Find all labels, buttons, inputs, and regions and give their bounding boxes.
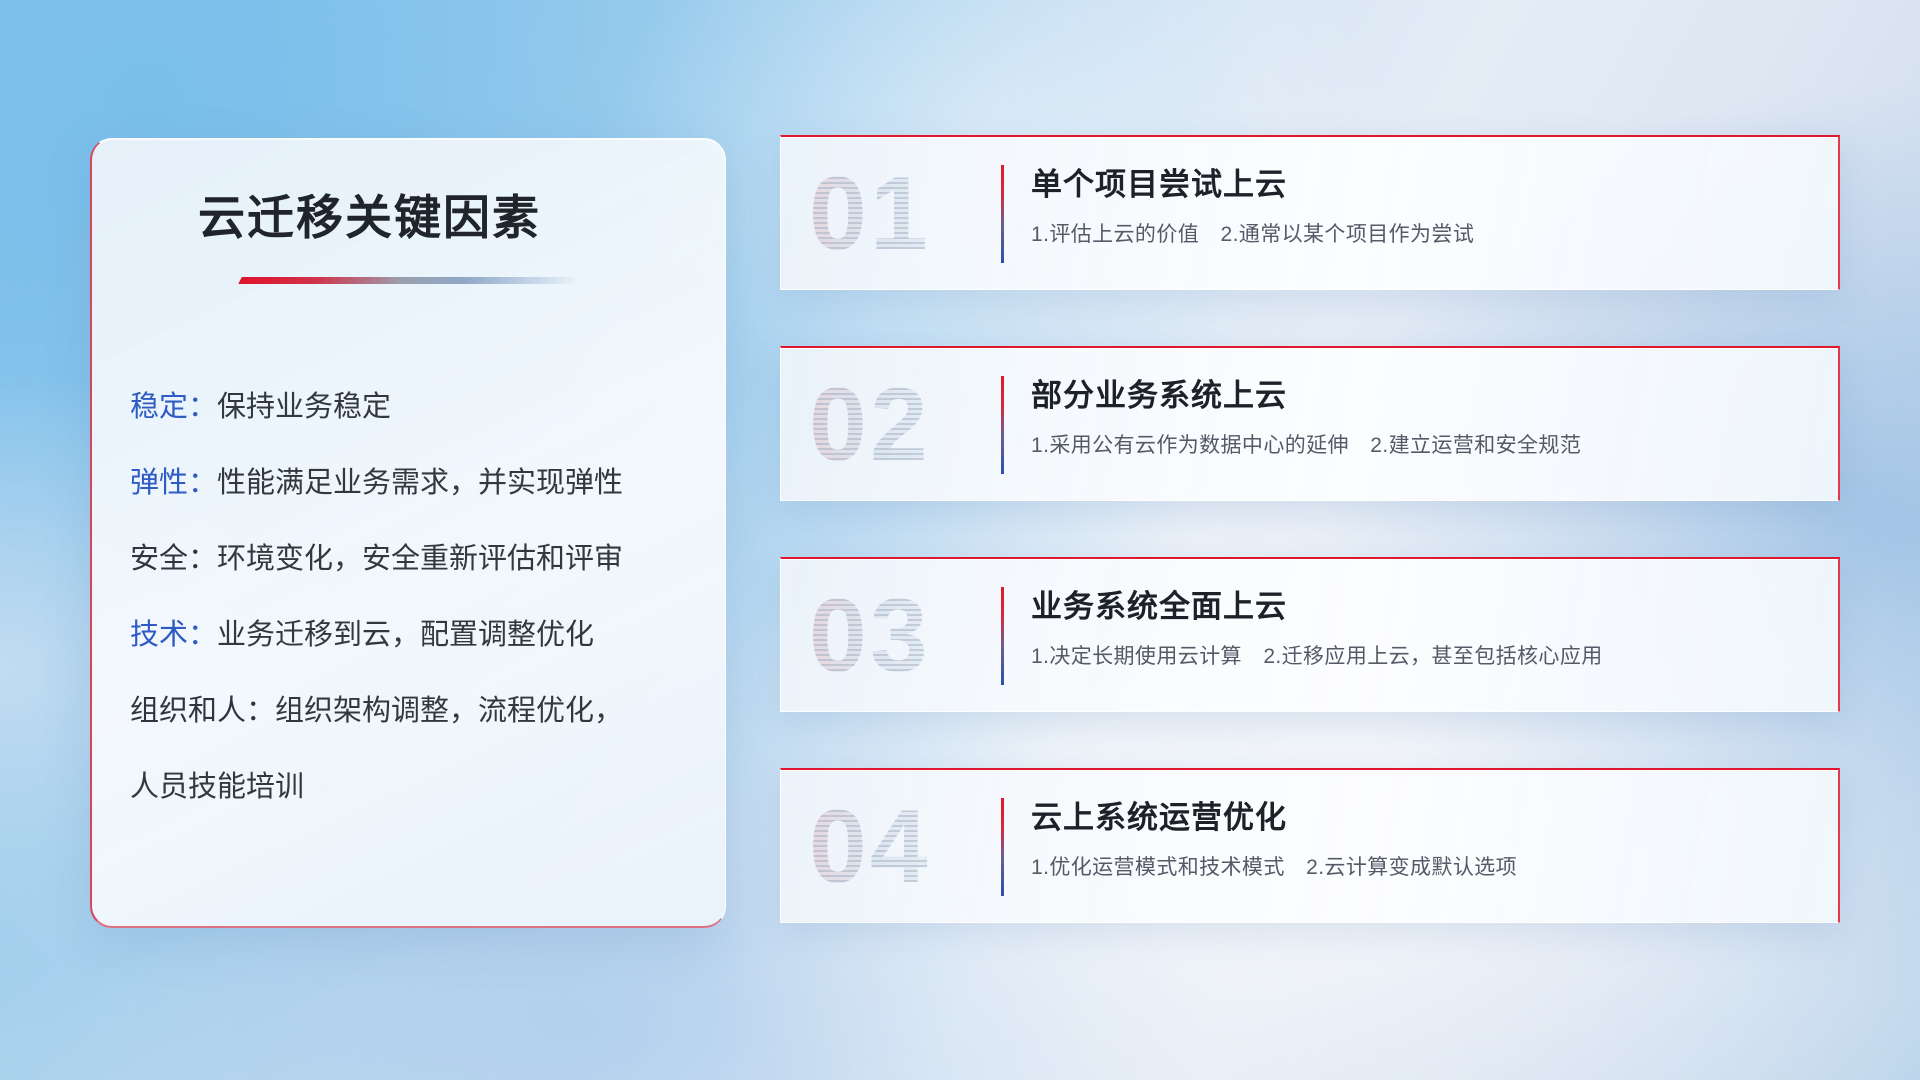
- factor-text: 环境变化，安全重新评估和评审: [217, 543, 623, 575]
- stage-card-body: 部分业务系统上云1.采用公有云作为数据中心的延伸 2.建立运营和安全规范: [1031, 370, 1808, 459]
- factor-text: 性能满足业务需求，并实现弹性: [217, 467, 623, 499]
- stage-card[interactable]: 04云上系统运营优化1.优化运营模式和技术模式 2.云计算变成默认选项: [780, 768, 1840, 923]
- stage-card[interactable]: 01单个项目尝试上云1.评估上云的价值 2.通常以某个项目作为尝试: [780, 135, 1840, 290]
- stage-card-body: 单个项目尝试上云1.评估上云的价值 2.通常以某个项目作为尝试: [1031, 159, 1808, 248]
- factor-list: 稳定：保持业务稳定弹性：性能满足业务需求，并实现弹性安全：环境变化，安全重新评估…: [130, 369, 699, 825]
- stage-divider-accent: [1001, 376, 1004, 474]
- stage-number: 03: [809, 561, 931, 711]
- stage-number: 04: [809, 772, 931, 922]
- stage-card-body: 业务系统全面上云1.决定长期使用云计算 2.迁移应用上云，甚至包括核心应用: [1031, 581, 1808, 670]
- factor-row: 组织和人：组织架构调整，流程优化，: [130, 673, 699, 749]
- stage-card[interactable]: 02部分业务系统上云1.采用公有云作为数据中心的延伸 2.建立运营和安全规范: [780, 346, 1840, 501]
- factor-text: 保持业务稳定: [217, 391, 391, 423]
- key-factors-panel: 云迁移关键因素 稳定：保持业务稳定弹性：性能满足业务需求，并实现弹性安全：环境变…: [90, 138, 726, 928]
- stage-number: 01: [809, 139, 931, 289]
- page-title: 云迁移关键因素: [198, 179, 541, 248]
- stage-divider-accent: [1001, 798, 1004, 896]
- stage-title: 云上系统运营优化: [1031, 792, 1808, 837]
- stage-divider-accent: [1001, 165, 1004, 263]
- stage-description: 1.采用公有云作为数据中心的延伸 2.建立运营和安全规范: [1031, 429, 1808, 459]
- stage-number: 02: [809, 350, 931, 500]
- title-underline-accent: [238, 277, 582, 284]
- factor-label: 组织和人：: [130, 695, 275, 727]
- factor-row: 技术：业务迁移到云，配置调整优化: [130, 597, 699, 673]
- stage-card[interactable]: 03业务系统全面上云1.决定长期使用云计算 2.迁移应用上云，甚至包括核心应用: [780, 557, 1840, 712]
- factor-label: 稳定：: [130, 391, 217, 423]
- factor-label: 安全：: [130, 543, 217, 575]
- stage-description: 1.优化运营模式和技术模式 2.云计算变成默认选项: [1031, 851, 1808, 881]
- factor-row: 弹性：性能满足业务需求，并实现弹性: [130, 445, 699, 521]
- stage-card-list: 01单个项目尝试上云1.评估上云的价值 2.通常以某个项目作为尝试02部分业务系…: [780, 135, 1840, 923]
- factor-label: 弹性：: [130, 467, 217, 499]
- stage-title: 单个项目尝试上云: [1031, 159, 1808, 204]
- stage-card-body: 云上系统运营优化1.优化运营模式和技术模式 2.云计算变成默认选项: [1031, 792, 1808, 881]
- stage-description: 1.决定长期使用云计算 2.迁移应用上云，甚至包括核心应用: [1031, 640, 1808, 670]
- stage-description: 1.评估上云的价值 2.通常以某个项目作为尝试: [1031, 218, 1808, 248]
- stage-title: 业务系统全面上云: [1031, 581, 1808, 626]
- factor-row: 安全：环境变化，安全重新评估和评审: [130, 521, 699, 597]
- factor-text: 人员技能培训: [130, 771, 304, 803]
- factor-text: 组织架构调整，流程优化，: [275, 695, 623, 727]
- slide-stage: 云迁移关键因素 稳定：保持业务稳定弹性：性能满足业务需求，并实现弹性安全：环境变…: [0, 0, 1920, 1080]
- factor-row: 稳定：保持业务稳定: [130, 369, 699, 445]
- stage-title: 部分业务系统上云: [1031, 370, 1808, 415]
- factor-label: 技术：: [130, 619, 217, 651]
- stage-divider-accent: [1001, 587, 1004, 685]
- factor-row: 人员技能培训: [130, 749, 699, 825]
- factor-text: 业务迁移到云，配置调整优化: [217, 619, 594, 651]
